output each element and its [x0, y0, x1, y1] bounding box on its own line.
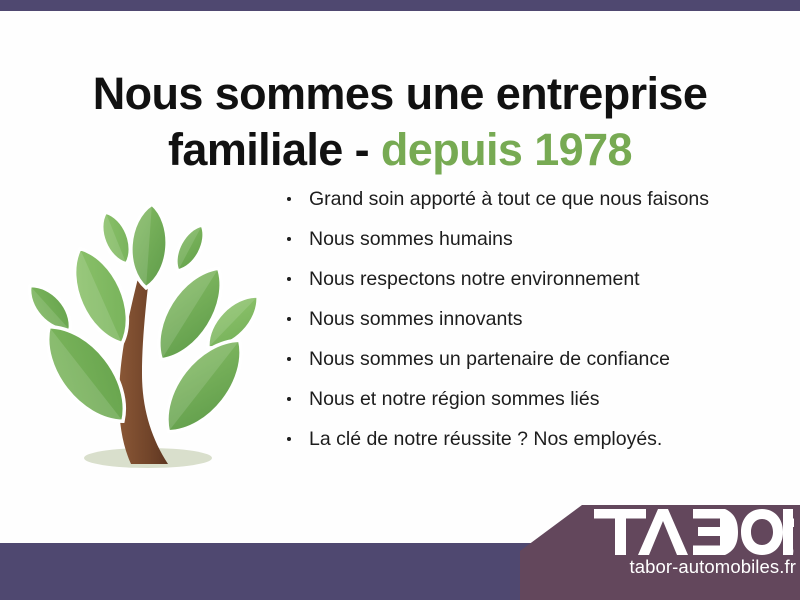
list-item: Nous sommes innovants — [285, 310, 785, 330]
list-item-label: Nous sommes un partenaire de confiance — [309, 348, 670, 370]
bullet-dot-icon — [287, 237, 291, 241]
page-title: Nous sommes une entreprise familiale - d… — [0, 66, 800, 178]
bullet-dot-icon — [287, 277, 291, 281]
logo-letter-t — [594, 509, 646, 555]
tree-illustration — [18, 186, 270, 486]
list-item-label: Nous et notre région sommes liés — [309, 388, 599, 410]
bullet-dot-icon — [287, 197, 291, 201]
list-item: Grand soin apporté à tout ce que nous fa… — [285, 190, 785, 210]
leaf-top-right-small — [169, 220, 212, 276]
list-item: Nous et notre région sommes liés — [285, 390, 785, 410]
value-bullet-list: Grand soin apporté à tout ce que nous fa… — [285, 190, 785, 470]
bullet-dot-icon — [287, 397, 291, 401]
top-accent-band — [0, 0, 800, 11]
headline-line-2-accent: depuis 1978 — [381, 124, 632, 175]
list-item-label: Grand soin apporté à tout ce que nous fa… — [309, 188, 709, 210]
brand-wordmark-tabor — [594, 509, 794, 555]
leaf-top-center — [128, 203, 170, 289]
brand-tagline: tabor-automobiles.fr — [520, 556, 796, 578]
headline-line-1: Nous sommes une entreprise — [93, 68, 708, 119]
list-item: Nous respectons notre environnement — [285, 270, 785, 290]
list-item-label: La clé de notre réussite ? Nos employés. — [309, 428, 662, 450]
headline-line-2-plain: familiale - — [168, 124, 381, 175]
bullet-dot-icon — [287, 357, 291, 361]
list-item: La clé de notre réussite ? Nos employés. — [285, 430, 785, 450]
logo-letter-b — [693, 509, 738, 555]
bullet-dot-icon — [287, 437, 291, 441]
logo-letter-o — [741, 509, 783, 555]
list-item-label: Nous respectons notre environnement — [309, 268, 640, 290]
bullet-dot-icon — [287, 317, 291, 321]
list-item: Nous sommes humains — [285, 230, 785, 250]
list-item-label: Nous sommes innovants — [309, 308, 523, 330]
list-item: Nous sommes un partenaire de confiance — [285, 350, 785, 370]
list-item-label: Nous sommes humains — [309, 228, 513, 250]
slide-canvas: Nous sommes une entreprise familiale - d… — [0, 0, 800, 600]
